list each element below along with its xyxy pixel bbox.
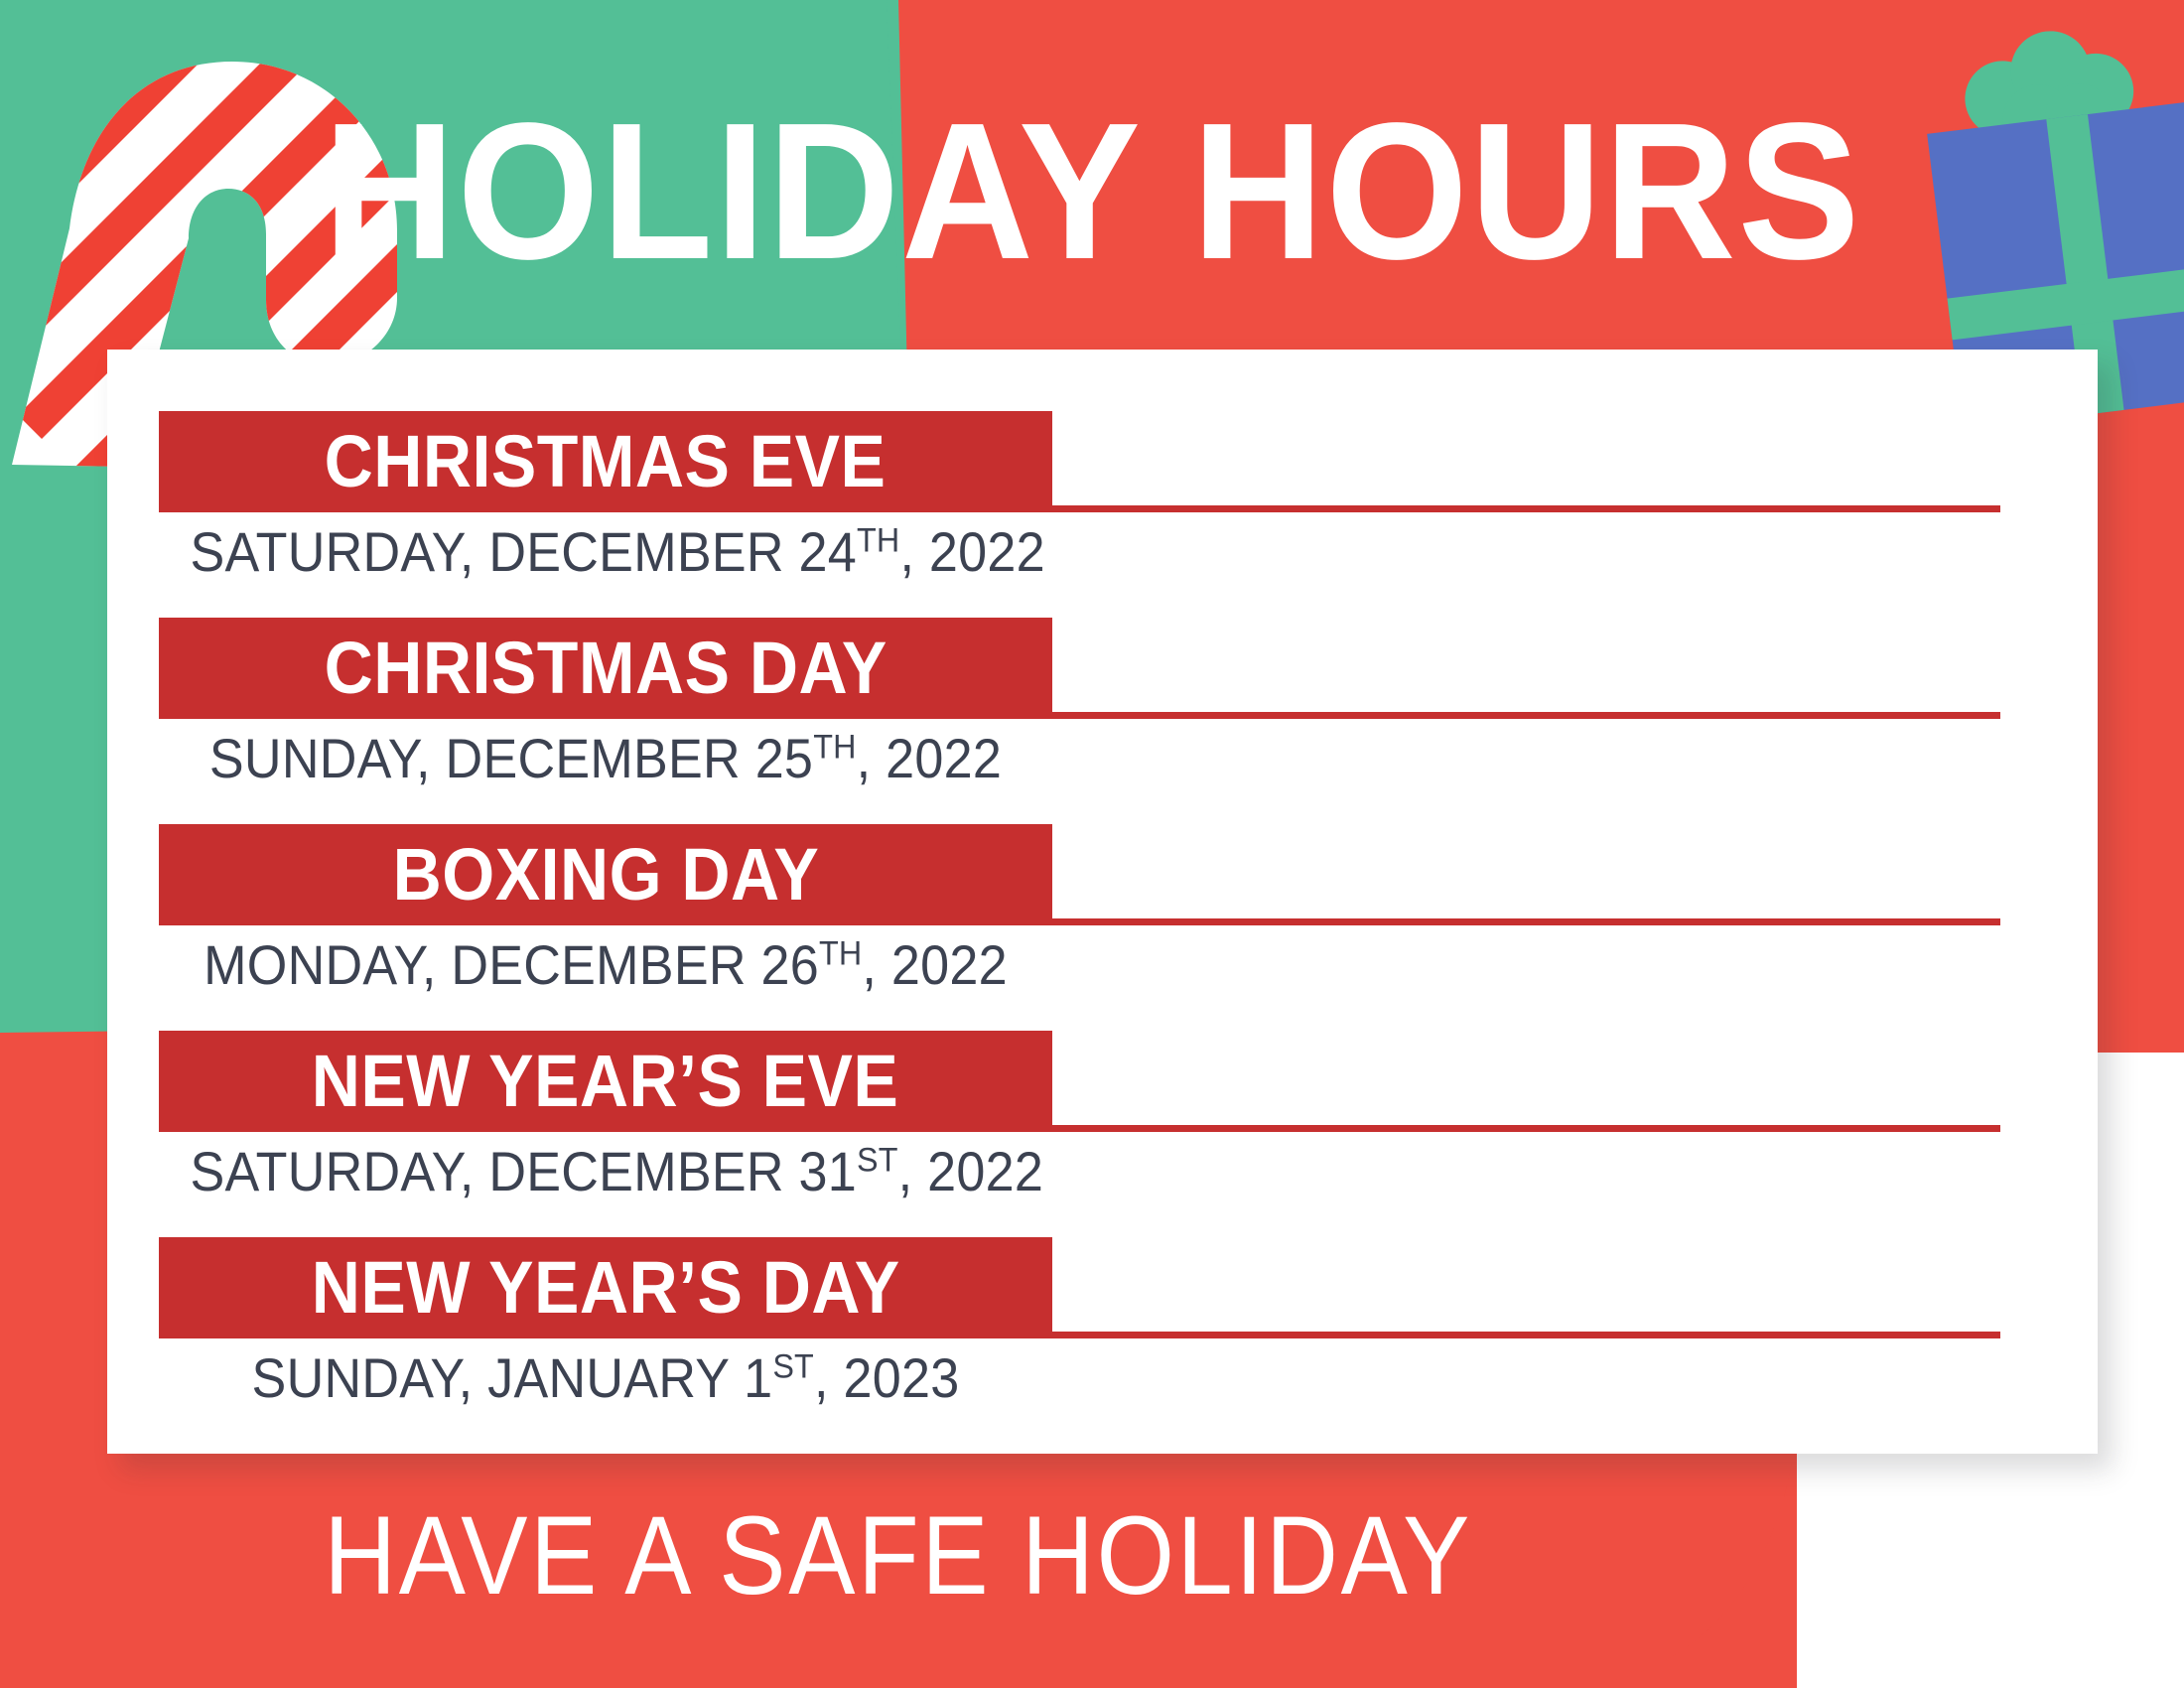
holiday-date-suffix: , 2023 bbox=[814, 1346, 959, 1409]
holiday-date-prefix: SUNDAY, JANUARY 1 bbox=[252, 1346, 773, 1409]
holiday-name-banner: NEW YEAR’S DAY bbox=[159, 1237, 1052, 1337]
holiday-date-prefix: MONDAY, DECEMBER 26 bbox=[204, 933, 819, 996]
holiday-date-ordinal: TH bbox=[819, 934, 862, 972]
holiday-date: SATURDAY, DECEMBER 31ST, 2022 bbox=[191, 1142, 1022, 1201]
holiday-name: CHRISTMAS DAY bbox=[324, 632, 887, 705]
holiday-date: MONDAY, DECEMBER 26TH, 2022 bbox=[191, 935, 1022, 995]
holiday-date-suffix: , 2022 bbox=[898, 1140, 1043, 1202]
holiday-name-banner: BOXING DAY bbox=[159, 824, 1052, 924]
holiday-name-banner: CHRISTMAS DAY bbox=[159, 618, 1052, 718]
schedule-row: CHRISTMAS EVESATURDAY, DECEMBER 24TH, 20… bbox=[132, 411, 2073, 618]
holiday-date-prefix: SATURDAY, DECEMBER 31 bbox=[191, 1140, 858, 1202]
holiday-name: NEW YEAR’S DAY bbox=[312, 1251, 900, 1325]
holiday-name: CHRISTMAS EVE bbox=[325, 425, 887, 498]
holiday-date: SATURDAY, DECEMBER 24TH, 2022 bbox=[191, 522, 1022, 582]
holiday-date-suffix: , 2022 bbox=[857, 727, 1002, 789]
schedule-row: BOXING DAYMONDAY, DECEMBER 26TH, 2022 bbox=[132, 824, 2073, 1031]
holiday-date-ordinal: ST bbox=[772, 1347, 814, 1385]
schedule-row: NEW YEAR’S EVESATURDAY, DECEMBER 31ST, 2… bbox=[132, 1031, 2073, 1237]
holiday-date-prefix: SATURDAY, DECEMBER 24 bbox=[191, 520, 858, 583]
holiday-name-banner: CHRISTMAS EVE bbox=[159, 411, 1052, 511]
holiday-date-suffix: , 2022 bbox=[862, 933, 1007, 996]
holiday-hours-poster: HOLIDAY HOURS CHRISTMAS EVESATURDAY, DEC… bbox=[0, 0, 2184, 1688]
schedule-row: CHRISTMAS DAYSUNDAY, DECEMBER 25TH, 2022 bbox=[132, 618, 2073, 824]
holiday-name: NEW YEAR’S EVE bbox=[312, 1045, 899, 1118]
holiday-date: SUNDAY, JANUARY 1ST, 2023 bbox=[191, 1348, 1022, 1408]
schedule-rows: CHRISTMAS EVESATURDAY, DECEMBER 24TH, 20… bbox=[132, 411, 2073, 1450]
holiday-name-banner: NEW YEAR’S EVE bbox=[159, 1031, 1052, 1131]
holiday-date-prefix: SUNDAY, DECEMBER 25 bbox=[209, 727, 813, 789]
holiday-date-ordinal: TH bbox=[813, 728, 856, 766]
holiday-date-ordinal: TH bbox=[857, 521, 899, 559]
schedule-card: CHRISTMAS EVESATURDAY, DECEMBER 24TH, 20… bbox=[107, 350, 2098, 1454]
schedule-row: NEW YEAR’S DAYSUNDAY, JANUARY 1ST, 2023 bbox=[132, 1237, 2073, 1450]
holiday-date-ordinal: ST bbox=[857, 1141, 898, 1179]
holiday-date: SUNDAY, DECEMBER 25TH, 2022 bbox=[191, 729, 1022, 788]
holiday-name: BOXING DAY bbox=[392, 838, 819, 912]
holiday-date-suffix: , 2022 bbox=[899, 520, 1044, 583]
